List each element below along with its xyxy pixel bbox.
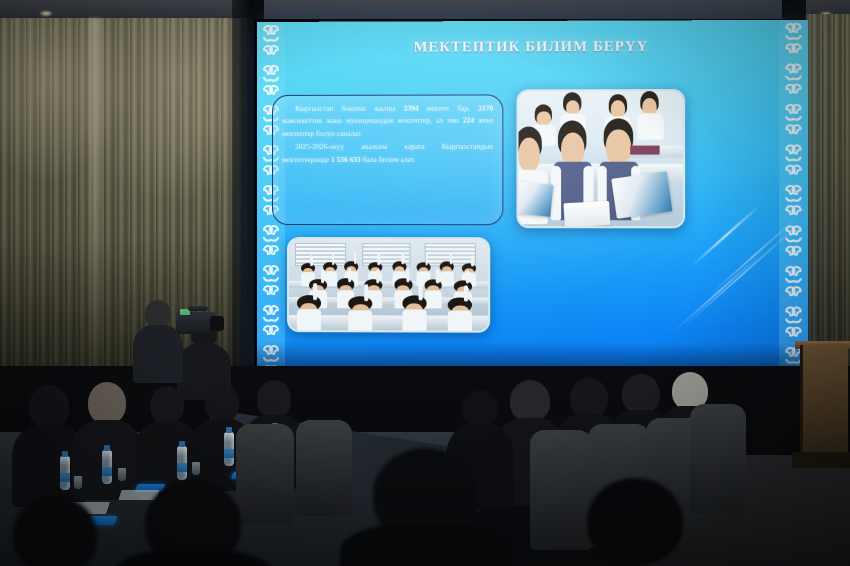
person-seated-back-row [136,300,180,372]
photo-classroom-hands-raised [287,237,490,333]
slide-paragraph-2: 2025-2026-окуу жылына карата Кыргызстанд… [282,141,493,166]
conference-hall-scene: МЕКТЕПТИК БИЛИМ БЕРҮҮ Кыргызстан боюнча … [0,0,850,566]
person-foreground [0,496,110,566]
podium-base [792,452,850,468]
book-icon [611,171,672,219]
decorative-light-streak [674,251,764,331]
photo-pupils-reading [517,89,686,228]
person-foreground [355,448,495,566]
water-bottle [60,456,70,490]
slide-title: МЕКТЕПТИК БИЛИМ БЕРҮҮ [257,38,808,57]
podium [800,345,848,457]
camera-handle [188,306,208,311]
book-icon [517,181,553,217]
slide-text-card: Кыргызстан боюнча жалпы 2394 мектеп бар,… [272,94,503,225]
chair [296,420,352,516]
person-official [18,385,80,495]
water-bottle [102,450,112,484]
ceiling-spotlight [40,11,52,16]
drinking-glass [192,462,200,475]
book-icon [564,201,611,228]
ornament-border-right [779,20,808,369]
person-foreground [570,478,700,566]
camera-lens-icon [210,316,224,331]
person-foreground [128,480,258,566]
drinking-glass [74,476,82,489]
water-bottle [177,446,187,480]
drinking-glass [118,468,126,481]
slide-paragraph-1: Кыргызстан боюнча жалпы 2394 мектеп бар,… [282,102,493,140]
water-bottle [224,432,234,466]
projection-screen: МЕКТЕПТИК БИЛИМ БЕРҮҮ Кыргызстан боюнча … [257,20,808,369]
screen-bottom-shadow [257,341,808,369]
